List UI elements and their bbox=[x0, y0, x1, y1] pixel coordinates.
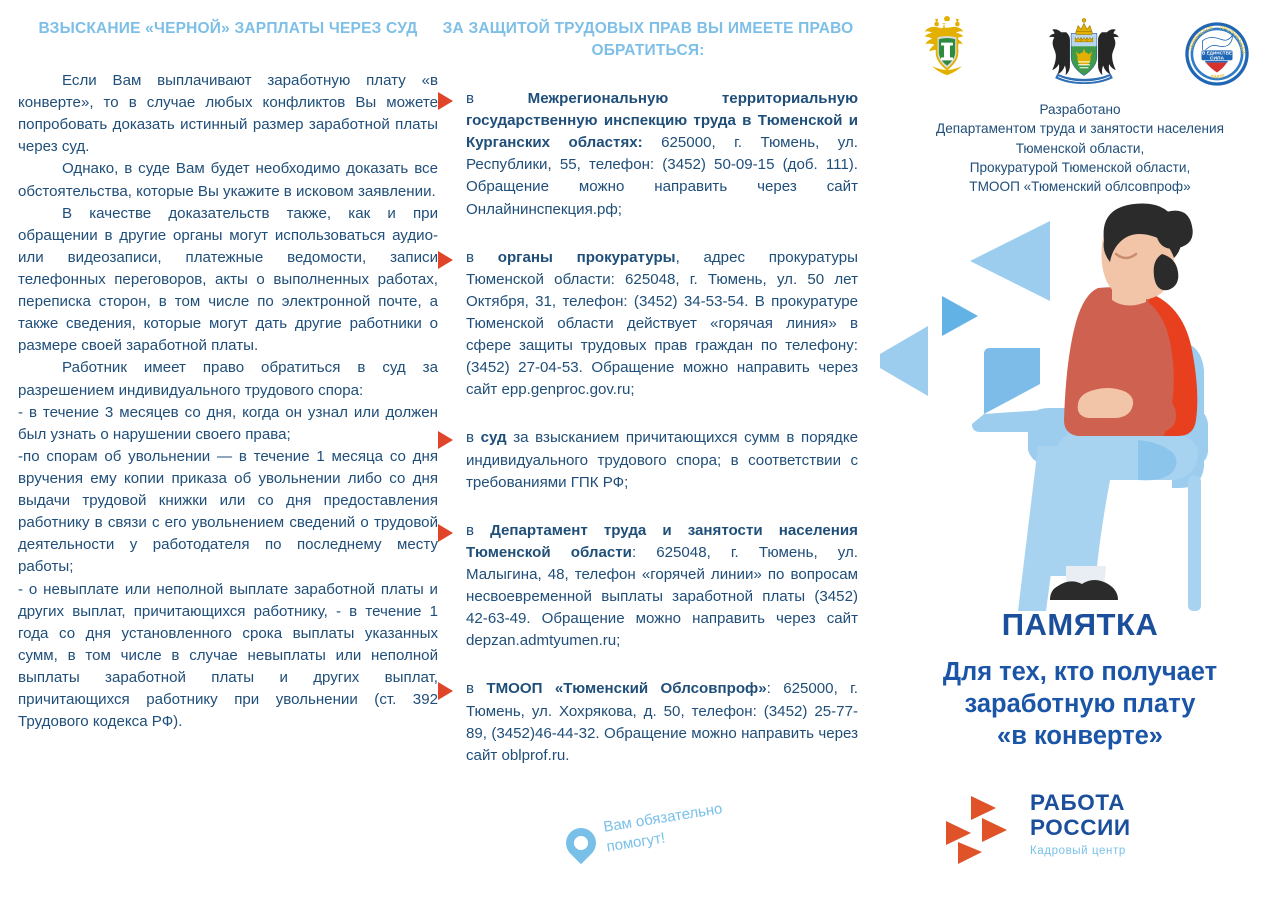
bullet-lead: в bbox=[466, 249, 498, 266]
bullet-lead: в bbox=[466, 522, 490, 539]
list-item: в суд за взысканием причитающихся сумм в… bbox=[438, 427, 858, 493]
help-callout-text: Вам обязательно помогут! bbox=[602, 799, 727, 858]
credits-text: Разработано Департаментом труда и занято… bbox=[880, 100, 1280, 196]
list-item: в Департамент труда и занятости населени… bbox=[438, 520, 858, 653]
fnpr-trade-union-emblem: В ЕДИНСТВЕ СИЛА ТЮМЕНСКОЕ ПРОФОБЪЕДИНЕНИ… bbox=[1184, 21, 1250, 92]
left-column-body: Если Вам выплачивают заработную плату «в… bbox=[18, 70, 438, 733]
illustration-woman-with-laptop bbox=[880, 196, 1280, 616]
middle-column: ЗА ЗАЩИТОЙ ТРУДОВЫХ ПРАВ ВЫ ИМЕЕТЕ ПРАВО… bbox=[438, 18, 858, 767]
bullet-bold: ТМООП «Тюменский Облсовпроф» bbox=[486, 680, 766, 697]
paragraph: Если Вам выплачивают заработную плату «в… bbox=[18, 70, 438, 158]
left-column: ВЗЫСКАНИЕ «ЧЕРНОЙ» ЗАРПЛАТЫ ЧЕРЕЗ СУД Ес… bbox=[18, 18, 438, 733]
paragraph: Работник имеет право обратиться в суд за… bbox=[18, 357, 438, 401]
help-callout: Вам обязательно помогут! bbox=[556, 816, 796, 886]
paragraph: - в течение 3 месяцев со дня, когда он у… bbox=[18, 402, 438, 446]
prosecutor-general-emblem bbox=[910, 13, 984, 92]
logo-line-2: РОССИИ bbox=[1030, 815, 1131, 840]
page-title: ПАМЯТКА bbox=[880, 608, 1280, 642]
tyumen-oblast-coat-of-arms bbox=[1043, 13, 1125, 92]
bullet-lead: в bbox=[466, 429, 481, 446]
map-pin-icon bbox=[560, 822, 602, 864]
logo-line-1: РАБОТА bbox=[1030, 790, 1131, 815]
seal-banner-line2: СИЛА bbox=[1210, 56, 1225, 62]
pinwheel-triangles-icon bbox=[940, 790, 1016, 866]
right-column: В ЕДИНСТВЕ СИЛА ТЮМЕНСКОЕ ПРОФОБЪЕДИНЕНИ… bbox=[880, 0, 1280, 902]
bullet-rest: , адрес прокуратуры Тюменской области: 6… bbox=[466, 249, 858, 399]
bullet-lead: в bbox=[466, 90, 528, 107]
triangle-bullet-icon bbox=[438, 524, 453, 542]
triangle-bullet-icon bbox=[438, 431, 453, 449]
bullet-bold: органы прокуратуры bbox=[498, 249, 676, 266]
rabota-rossii-logo: РАБОТА РОССИИ Кадровый центр bbox=[940, 786, 1240, 876]
page-subtitle: Для тех, кто получает заработную плату «… bbox=[880, 656, 1280, 752]
logo-wordmark: РАБОТА РОССИИ Кадровый центр bbox=[1030, 790, 1131, 857]
triangle-bullet-icon bbox=[438, 682, 453, 700]
bullet-rest: за взысканием причитающихся сумм в поряд… bbox=[466, 429, 858, 490]
bullet-lead: в bbox=[466, 680, 486, 697]
list-item: в ТМООП «Тюменский Облсовпроф»: 625000, … bbox=[438, 678, 858, 766]
paragraph: - о невыплате или неполной выплате зараб… bbox=[18, 579, 438, 734]
triangle-bullet-icon bbox=[438, 251, 453, 269]
paragraph: В качестве доказательств также, как и пр… bbox=[18, 203, 438, 358]
logo-tagline: Кадровый центр bbox=[1030, 845, 1131, 857]
laptop-icon bbox=[972, 348, 1078, 432]
list-item: в органы прокуратуры, адрес прокуратуры … bbox=[438, 247, 858, 402]
left-column-heading: ВЗЫСКАНИЕ «ЧЕРНОЙ» ЗАРПЛАТЫ ЧЕРЕЗ СУД bbox=[18, 18, 438, 40]
seal-banner-line1: В ЕДИНСТВЕ bbox=[1202, 51, 1232, 56]
authorities-list: в Межрегиональную территориальную госуда… bbox=[438, 88, 858, 767]
brochure-page: ВЗЫСКАНИЕ «ЧЕРНОЙ» ЗАРПЛАТЫ ЧЕРЕЗ СУД Ес… bbox=[0, 0, 1280, 902]
bullet-bold: суд bbox=[481, 429, 507, 446]
paragraph: -по спорам об увольнении — в течение 1 м… bbox=[18, 446, 438, 579]
paragraph: Однако, в суде Вам будет необходимо дока… bbox=[18, 158, 438, 202]
list-item: в Межрегиональную территориальную госуда… bbox=[438, 88, 858, 221]
middle-column-heading: ЗА ЗАЩИТОЙ ТРУДОВЫХ ПРАВ ВЫ ИМЕЕТЕ ПРАВО… bbox=[438, 18, 858, 62]
emblem-row: В ЕДИНСТВЕ СИЛА ТЮМЕНСКОЕ ПРОФОБЪЕДИНЕНИ… bbox=[880, 16, 1280, 92]
triangle-bullet-icon bbox=[438, 92, 453, 110]
right-title-block: ПАМЯТКА Для тех, кто получает заработную… bbox=[880, 608, 1280, 752]
